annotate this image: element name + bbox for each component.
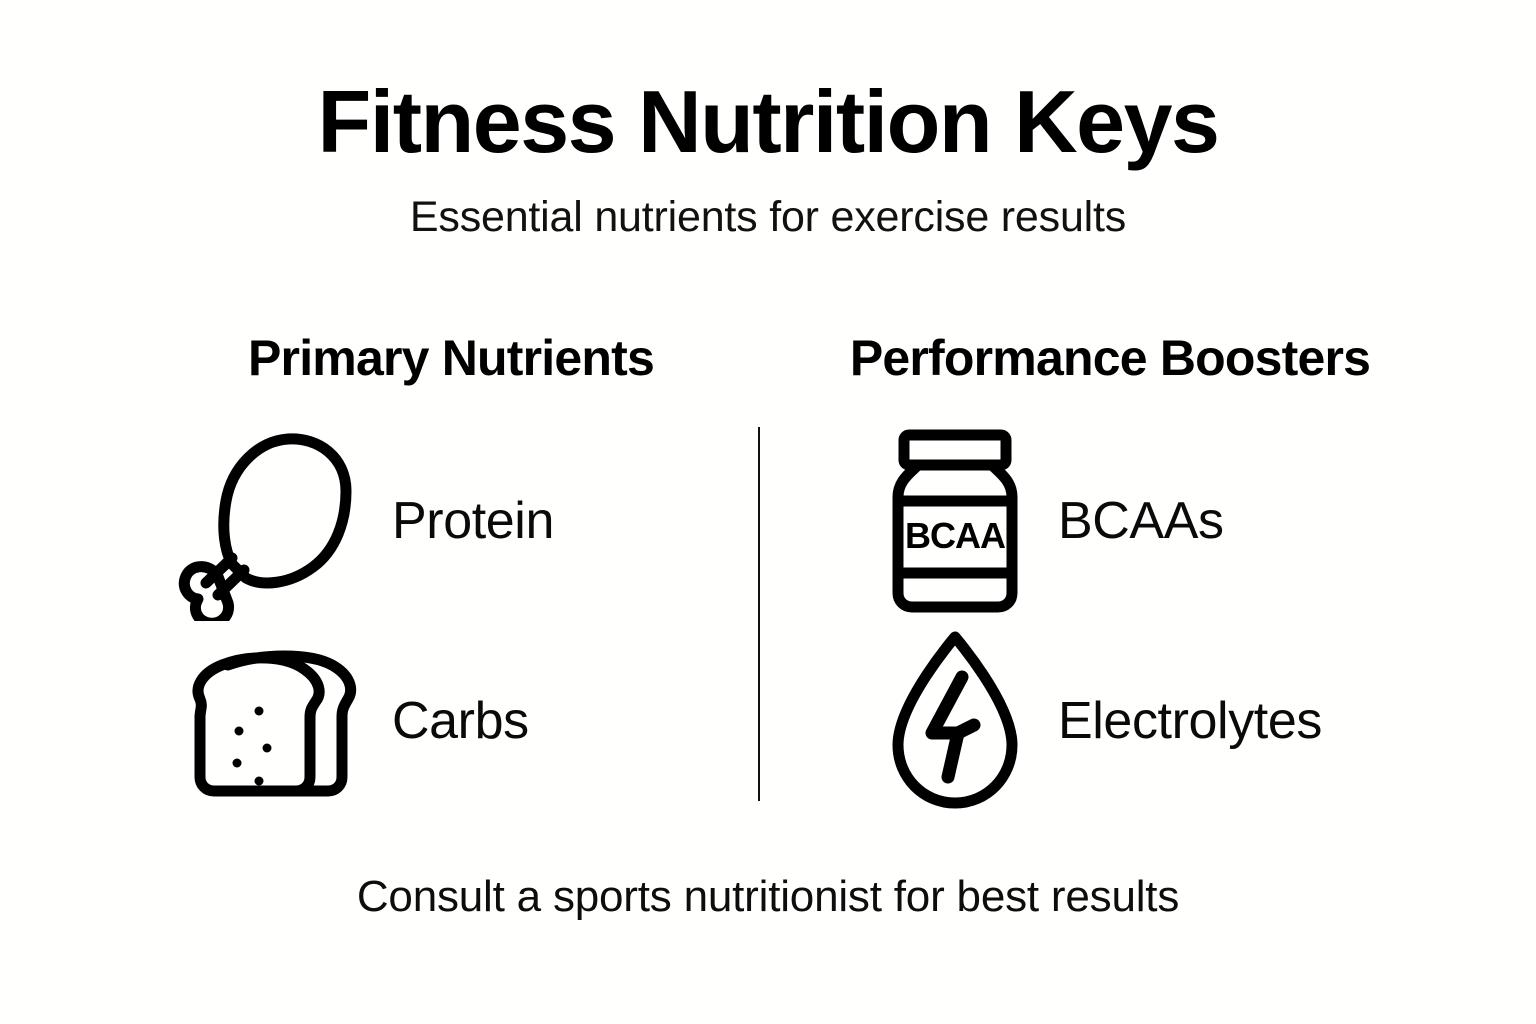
- column-performance-boosters: Performance Boosters: [750, 333, 1410, 821]
- list-item-protein[interactable]: Protein: [130, 421, 790, 621]
- chicken-drumstick-icon: [170, 421, 370, 621]
- column-heading-primary-nutrients: Primary Nutrients: [130, 333, 790, 383]
- supplement-jar-label-text: BCAA: [905, 515, 1006, 556]
- column-divider: [758, 427, 760, 801]
- footer-note: Consult a sports nutritionist for best r…: [0, 875, 1536, 919]
- list-item-bcaas[interactable]: BCAA BCAAs: [750, 421, 1410, 621]
- bread-loaf-icon: [170, 621, 370, 821]
- list-item-label-protein: Protein: [392, 495, 554, 547]
- water-drop-bolt-icon: [870, 621, 1040, 821]
- list-item-carbs[interactable]: Carbs: [130, 621, 790, 821]
- list-item-label-bcaas: BCAAs: [1058, 495, 1224, 547]
- page-subtitle: Essential nutrients for exercise results: [0, 196, 1536, 239]
- list-item-electrolytes[interactable]: Electrolytes: [750, 621, 1410, 821]
- list-item-label-carbs: Carbs: [392, 695, 529, 747]
- items-list-primary-nutrients: Protein: [130, 421, 790, 821]
- supplement-jar-icon: BCAA: [870, 421, 1040, 621]
- infographic-poster: Fitness Nutrition Keys Essential nutrien…: [0, 0, 1536, 1024]
- items-list-performance-boosters: BCAA BCAAs: [750, 421, 1410, 821]
- page-title: Fitness Nutrition Keys: [0, 78, 1536, 166]
- column-heading-performance-boosters: Performance Boosters: [750, 333, 1410, 383]
- header: Fitness Nutrition Keys Essential nutrien…: [0, 78, 1536, 239]
- column-primary-nutrients: Primary Nutrients: [130, 333, 790, 821]
- footer: Consult a sports nutritionist for best r…: [0, 875, 1536, 919]
- list-item-label-electrolytes: Electrolytes: [1058, 695, 1322, 747]
- columns-container: Primary Nutrients: [0, 333, 1536, 833]
